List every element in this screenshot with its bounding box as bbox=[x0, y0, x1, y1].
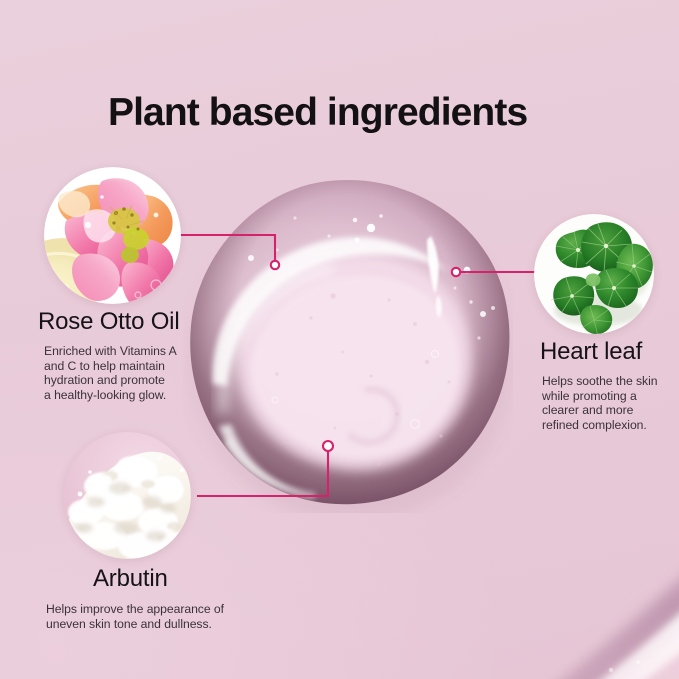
callout-body-heartleaf-line-4: refined complexion. bbox=[542, 418, 657, 433]
callout-heading-rose: Rose Otto Oil bbox=[38, 309, 179, 334]
callout-heartleaf: Heart leaf Helps soothe the skin while p… bbox=[540, 339, 657, 433]
callout-body-rose: Enriched with Vitamins A and C to help m… bbox=[44, 344, 179, 402]
connector-line-rose bbox=[178, 235, 275, 264]
page-title: Plant based ingredients bbox=[108, 91, 527, 135]
gel-blob-subject bbox=[183, 178, 513, 513]
callout-arbutin: Arbutin Helps improve the appearance of … bbox=[93, 566, 224, 631]
callout-rose: Rose Otto Oil Enriched with Vitamins A a… bbox=[38, 309, 179, 403]
ingredient-photo-heartleaf[interactable] bbox=[534, 214, 654, 334]
ingredient-photo-rose[interactable] bbox=[44, 167, 181, 304]
callout-body-heartleaf: Helps soothe the skin while promoting a … bbox=[542, 374, 657, 432]
callout-body-rose-line-3: hydration and promote bbox=[44, 373, 179, 388]
callout-body-heartleaf-line-3: clearer and more bbox=[542, 403, 657, 418]
arbutin-powder-icon bbox=[64, 432, 191, 559]
rose-flower-in-oil-icon bbox=[44, 167, 181, 304]
callout-body-heartleaf-line-1: Helps soothe the skin bbox=[542, 374, 657, 389]
connector-dot-rose bbox=[271, 261, 279, 269]
callout-heading-arbutin: Arbutin bbox=[93, 566, 224, 591]
gel-smear-decoration bbox=[398, 520, 679, 679]
callout-body-heartleaf-line-2: while promoting a bbox=[542, 389, 657, 404]
ingredient-photo-arbutin[interactable] bbox=[64, 432, 191, 559]
callout-body-arbutin-line-1: Helps improve the appearance of bbox=[46, 602, 224, 617]
callout-body-rose-line-4: a healthy-looking glow. bbox=[44, 388, 179, 403]
connector-line-arbutin bbox=[198, 452, 328, 496]
callout-body-arbutin: Helps improve the appearance of uneven s… bbox=[46, 602, 224, 631]
connector-dot-arbutin bbox=[323, 441, 333, 451]
callout-body-rose-line-1: Enriched with Vitamins A bbox=[44, 344, 179, 359]
callout-body-rose-line-2: and C to help maintain bbox=[44, 359, 179, 374]
product-infographic: Plant based ingredients Rose Otto Oil En… bbox=[0, 0, 679, 679]
connector-dot-heartleaf bbox=[452, 268, 460, 276]
heart-leaf-cluster-icon bbox=[534, 214, 654, 334]
callout-body-arbutin-line-2: uneven skin tone and dullness. bbox=[46, 617, 224, 632]
callout-heading-heartleaf: Heart leaf bbox=[540, 339, 657, 364]
